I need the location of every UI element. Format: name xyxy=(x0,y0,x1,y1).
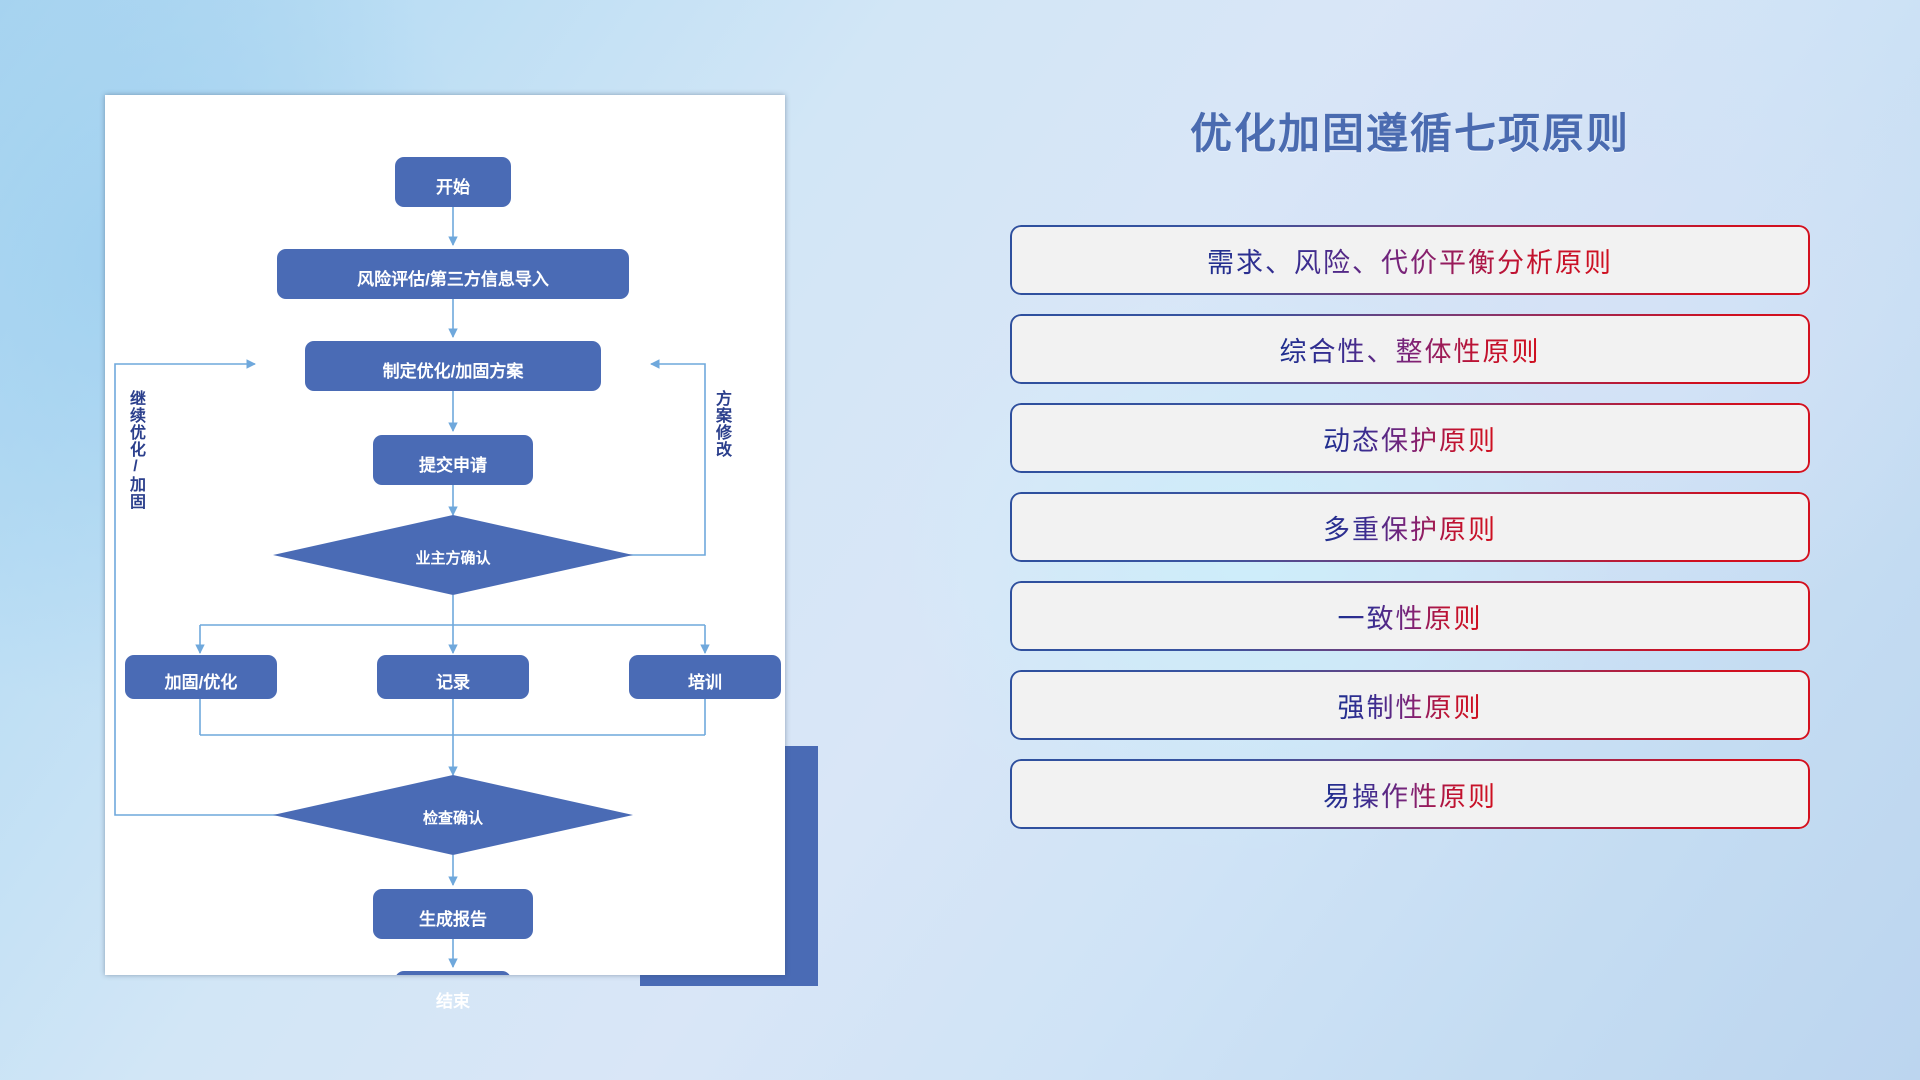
node-submit[interactable] xyxy=(373,435,533,485)
node-end-label: 结束 xyxy=(395,987,511,1012)
principle-label: 易操作性原则 xyxy=(1323,775,1497,814)
slide-canvas: 开始 风险评估/第三方信息导入 制定优化/加固方案 提交申请 业主方确认 加固/… xyxy=(0,0,1920,1080)
principle-label: 动态保护原则 xyxy=(1323,419,1497,458)
node-check[interactable] xyxy=(273,775,633,855)
edge-loop-right xyxy=(543,364,705,555)
principles-list: 需求、风险、代价平衡分析原则 综合性、整体性原则 动态保护原则 多重保护原则 一… xyxy=(1010,225,1810,829)
principle-card-2[interactable]: 综合性、整体性原则 xyxy=(1010,314,1810,384)
flowchart-svg xyxy=(105,95,785,975)
principle-card-4[interactable]: 多重保护原则 xyxy=(1010,492,1810,562)
principle-label: 需求、风险、代价平衡分析原则 xyxy=(1207,241,1613,280)
principle-card-7[interactable]: 易操作性原则 xyxy=(1010,759,1810,829)
principle-card-5[interactable]: 一致性原则 xyxy=(1010,581,1810,651)
edge-loop-left xyxy=(115,364,363,815)
edge-label-right-loop: 方案修改 xyxy=(713,390,729,458)
principle-card-6[interactable]: 强制性原则 xyxy=(1010,670,1810,740)
connector-group xyxy=(115,207,705,967)
node-owner[interactable] xyxy=(273,515,633,595)
principle-label: 多重保护原则 xyxy=(1323,508,1497,547)
principle-card-3[interactable]: 动态保护原则 xyxy=(1010,403,1810,473)
node-end[interactable] xyxy=(395,971,511,975)
node-report[interactable] xyxy=(373,889,533,939)
principle-label: 一致性原则 xyxy=(1338,597,1483,636)
node-reinforce[interactable] xyxy=(125,655,277,699)
page-title: 优化加固遵循七项原则 xyxy=(1010,100,1810,161)
principle-card-1[interactable]: 需求、风险、代价平衡分析原则 xyxy=(1010,225,1810,295)
principles-panel: 优化加固遵循七项原则 需求、风险、代价平衡分析原则 综合性、整体性原则 动态保护… xyxy=(1010,100,1810,829)
flowchart-card: 开始 风险评估/第三方信息导入 制定优化/加固方案 提交申请 业主方确认 加固/… xyxy=(105,95,785,975)
edge-label-left-loop: 继续优化/加固 xyxy=(127,390,143,510)
node-record[interactable] xyxy=(377,655,529,699)
principle-label: 强制性原则 xyxy=(1338,686,1483,725)
node-risk[interactable] xyxy=(277,249,629,299)
node-train[interactable] xyxy=(629,655,781,699)
principle-label: 综合性、整体性原则 xyxy=(1280,330,1541,369)
node-plan[interactable] xyxy=(305,341,601,391)
node-start[interactable] xyxy=(395,157,511,207)
